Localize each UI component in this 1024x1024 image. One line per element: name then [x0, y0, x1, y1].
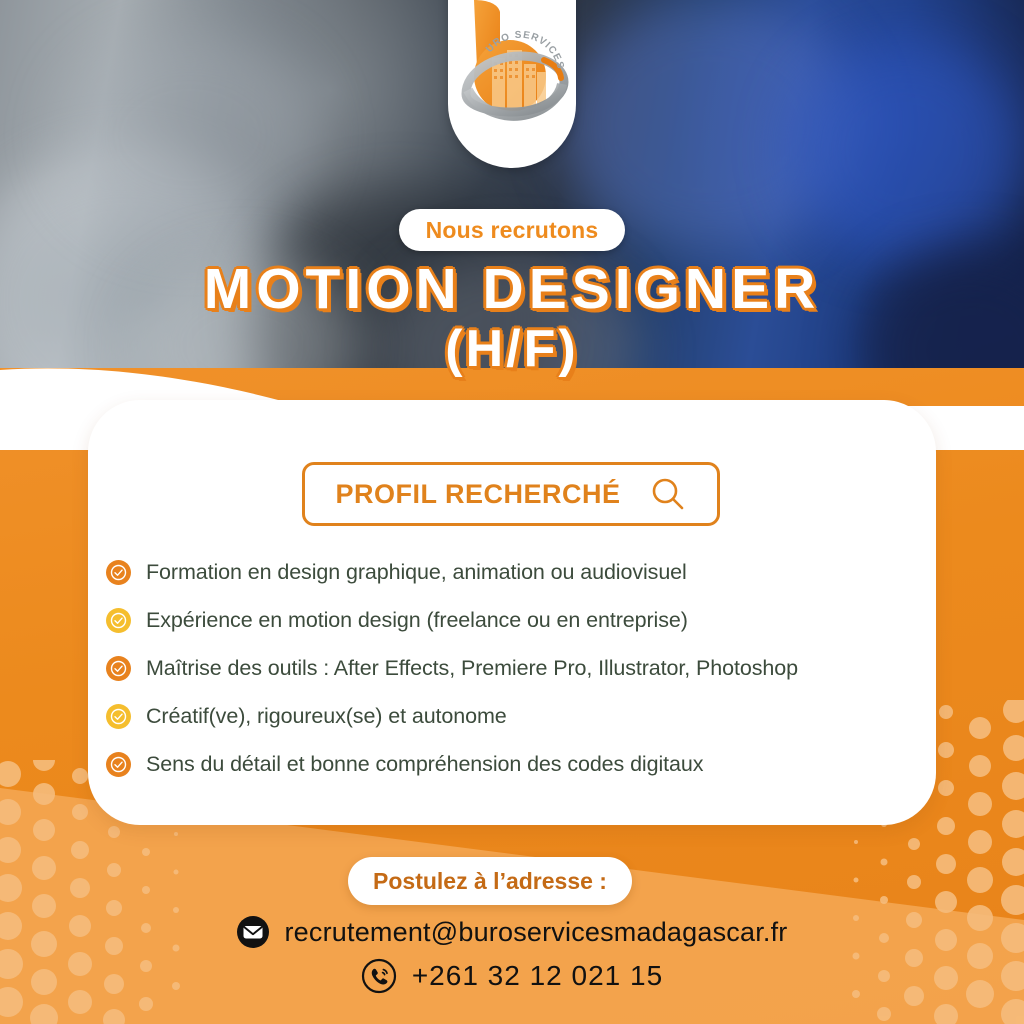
job-posting-poster: URO SERVICES Nous recrutons MOTION DESIG… [0, 0, 1024, 1024]
apply-pill-label: Postulez à l’adresse : [373, 868, 607, 895]
logo-badge: URO SERVICES [448, 0, 576, 168]
search-icon [649, 475, 687, 513]
email-row[interactable]: recrutement@buroservicesmadagascar.fr [0, 915, 1024, 949]
envelope-icon [236, 915, 270, 949]
photo-blur-blob [790, 40, 1020, 260]
requirement-text: Expérience en motion design (freelance o… [146, 608, 688, 633]
check-circle-icon [106, 704, 131, 729]
requirements-list: Formation en design graphique, animation… [106, 548, 936, 788]
list-item: Formation en design graphique, animation… [106, 548, 936, 596]
job-title-line1: MOTION DESIGNER [0, 262, 1024, 318]
requirement-text: Sens du détail et bonne compréhension de… [146, 752, 703, 777]
list-item: Expérience en motion design (freelance o… [106, 596, 936, 644]
list-item: Créatif(ve), rigoureux(se) et autonome [106, 692, 936, 740]
phone-number: +261 32 12 021 15 [412, 960, 663, 992]
phone-icon [361, 958, 397, 994]
profile-card: PROFIL RECHERCHÉ Formation en design gra… [88, 400, 936, 825]
profil-recherche-badge: PROFIL RECHERCHÉ [302, 462, 720, 526]
phone-row[interactable]: +261 32 12 021 15 [0, 958, 1024, 994]
photo-blur-blob [60, 30, 320, 240]
requirement-text: Maîtrise des outils : After Effects, Pre… [146, 656, 798, 681]
job-title-line2: (H/F) [0, 324, 1024, 375]
list-item: Maîtrise des outils : After Effects, Pre… [106, 644, 936, 692]
list-item: Sens du détail et bonne compréhension de… [106, 740, 936, 788]
apply-pill: Postulez à l’adresse : [348, 857, 632, 905]
check-circle-icon [106, 608, 131, 633]
profil-recherche-label: PROFIL RECHERCHÉ [335, 479, 620, 510]
check-circle-icon [106, 656, 131, 681]
recruit-pill-label: Nous recrutons [426, 217, 599, 244]
recruit-pill: Nous recrutons [399, 209, 625, 251]
page-title: MOTION DESIGNER (H/F) [0, 262, 1024, 375]
check-circle-icon [106, 752, 131, 777]
check-circle-icon [106, 560, 131, 585]
buro-services-logo: URO SERVICES [448, 0, 576, 158]
requirement-text: Créatif(ve), rigoureux(se) et autonome [146, 704, 507, 729]
requirement-text: Formation en design graphique, animation… [146, 560, 687, 585]
email-address: recrutement@buroservicesmadagascar.fr [284, 917, 787, 948]
